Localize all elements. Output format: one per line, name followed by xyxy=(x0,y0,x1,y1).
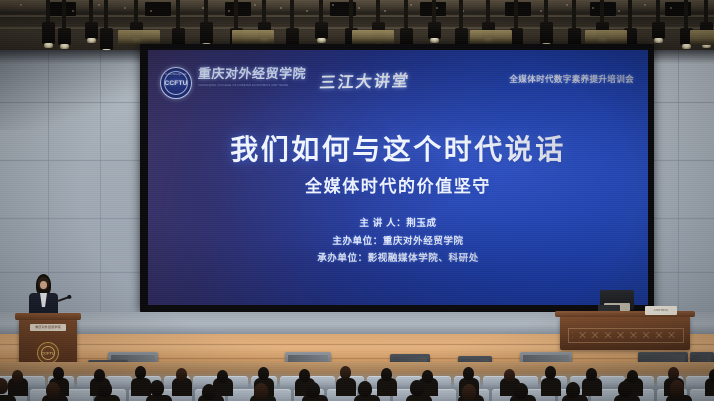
ceiling-dot xyxy=(20,4,22,6)
audience-head xyxy=(586,368,597,381)
audience-head xyxy=(504,369,515,382)
stage-light-fixture xyxy=(428,22,441,39)
light-hanger xyxy=(349,0,353,30)
ceiling-dot xyxy=(150,10,152,12)
stage-light-fixture xyxy=(200,22,213,44)
control-paper: CONTROL xyxy=(645,306,677,315)
audience-head xyxy=(306,382,320,398)
audience-head xyxy=(258,367,269,380)
podium-seal-icon: CCFTU xyxy=(37,342,59,364)
light-hanger xyxy=(628,0,632,30)
audience-head xyxy=(150,380,164,396)
light-hanger xyxy=(404,0,408,30)
audience-head xyxy=(627,370,638,383)
podium-name-plate-text: 重庆对外经贸学院 xyxy=(30,324,66,331)
auditorium-scene: CHONGQING CCFTU 重庆对外经贸学院 CHONGQING COLLE… xyxy=(0,0,714,401)
warm-panel-light xyxy=(470,30,512,45)
warm-panel-light xyxy=(585,30,627,45)
warm-panel-light xyxy=(232,30,274,45)
ceiling-dot xyxy=(332,4,334,6)
stage-table xyxy=(560,316,690,350)
audience-head xyxy=(254,383,268,399)
ceiling-dot xyxy=(540,10,542,12)
ceiling-dot xyxy=(124,7,126,9)
light-hanger xyxy=(684,0,688,30)
light-hanger xyxy=(176,0,180,30)
audience-head xyxy=(670,380,684,396)
audience-head xyxy=(176,368,187,381)
audience-head xyxy=(709,369,714,382)
wall-right xyxy=(648,50,714,312)
audience-head xyxy=(381,368,392,381)
audience-shoulders xyxy=(0,395,16,401)
audience-area xyxy=(0,362,714,401)
ceiling-dot xyxy=(670,7,672,9)
ceiling-dot xyxy=(72,10,74,12)
audience-head xyxy=(462,384,476,400)
warm-panel-light xyxy=(352,30,394,45)
ceiling-dot xyxy=(280,7,282,9)
warm-panel-light xyxy=(690,30,714,45)
ceiling-dot xyxy=(228,10,230,12)
light-hanger xyxy=(459,0,463,30)
podium-top xyxy=(15,313,81,320)
light-hanger xyxy=(572,0,576,30)
stage-light-fixture xyxy=(42,22,55,44)
control-paper-text: CONTROL xyxy=(645,306,677,315)
ceiling-dot xyxy=(384,10,386,12)
audience-head xyxy=(46,382,60,398)
ceiling-hanger-box xyxy=(505,2,531,16)
stage-table-ornament xyxy=(572,332,678,338)
light-hanger xyxy=(514,0,518,30)
stage-light-fixture xyxy=(400,28,413,45)
stage-light-fixture xyxy=(652,22,665,39)
podium-seal-text: CCFTU xyxy=(41,351,55,356)
podium-name-plate: 重庆对外经贸学院 xyxy=(30,324,66,331)
audience-head xyxy=(545,366,556,379)
ceiling-dot xyxy=(436,7,438,9)
ceiling-dot xyxy=(644,4,646,6)
stage-light-fixture xyxy=(100,28,113,50)
audience-head xyxy=(299,369,310,382)
audience-head xyxy=(668,367,679,380)
warm-panel-light xyxy=(118,30,160,45)
audience-head xyxy=(618,381,632,397)
stage-light-fixture xyxy=(85,22,98,39)
speaker-face xyxy=(40,281,47,289)
audience-head xyxy=(514,383,528,399)
audience-head xyxy=(202,384,216,400)
ceiling-dot xyxy=(592,7,594,9)
audience-shoulders xyxy=(336,378,356,396)
stage-light-fixture xyxy=(172,28,185,45)
ceiling-dot xyxy=(358,7,360,9)
light-hanger xyxy=(62,0,66,30)
audience-head xyxy=(410,380,424,396)
ceiling-hanger-box xyxy=(225,2,251,16)
stage-light-fixture xyxy=(58,28,71,45)
screen-vignette xyxy=(148,50,648,305)
led-screen: CHONGQING CCFTU 重庆对外经贸学院 CHONGQING COLLE… xyxy=(148,50,648,305)
audience-head xyxy=(98,381,112,397)
ceiling-dot xyxy=(98,4,100,6)
stage-light-fixture xyxy=(568,28,581,45)
ceiling-dot xyxy=(306,10,308,12)
ceiling-dot xyxy=(410,4,412,6)
audience-head xyxy=(12,370,23,383)
stage-light-fixture xyxy=(315,22,328,39)
audience-head xyxy=(463,367,474,380)
audience-head xyxy=(53,367,64,380)
audience-head xyxy=(422,370,433,383)
ceiling-hanger-box xyxy=(145,2,171,16)
audience-head xyxy=(566,382,580,398)
audience-head xyxy=(135,366,146,379)
light-hanger xyxy=(104,0,108,30)
audience-shoulders xyxy=(131,378,151,396)
stage-light-fixture xyxy=(540,22,553,44)
ceiling-dot xyxy=(254,4,256,6)
audience-head xyxy=(217,370,228,383)
audience-head xyxy=(340,366,351,379)
light-hanger xyxy=(290,0,294,30)
audience-shoulders xyxy=(541,378,561,396)
ceiling-dot xyxy=(566,4,568,6)
light-hanger xyxy=(234,0,238,30)
ceiling-dot xyxy=(618,10,620,12)
audience-head xyxy=(358,381,372,397)
